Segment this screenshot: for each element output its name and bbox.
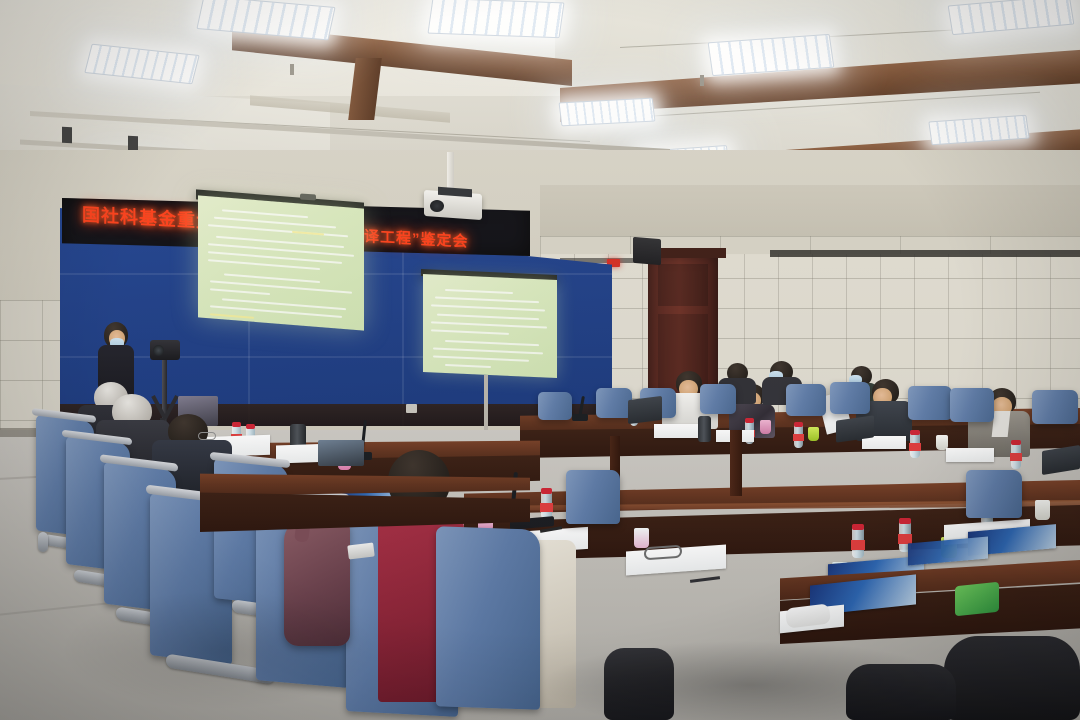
ceiling-light: [427, 0, 564, 38]
slide-text-line: [431, 304, 545, 311]
slide-text-line: [210, 288, 270, 295]
slide-text-line: [445, 364, 491, 368]
attendee-shirt: [992, 411, 1011, 437]
gooseneck-microphone-base: [572, 414, 588, 421]
chair-back[interactable]: [1032, 390, 1078, 424]
wall-reveal-strip: [770, 250, 1080, 257]
pink-paper-cup: [760, 420, 771, 434]
chair-back[interactable]: [908, 386, 952, 420]
eyeglasses-icon: [644, 545, 682, 561]
bottle-label: [540, 503, 553, 512]
slide-text-line-highlight: [292, 231, 324, 236]
camera-lens-icon: [153, 345, 164, 356]
main-projection-screen: [198, 195, 364, 330]
bottle-cap: [232, 422, 241, 427]
laptop[interactable]: [628, 396, 662, 424]
white-paper-cup: [1035, 500, 1050, 520]
chair-back[interactable]: [950, 388, 994, 422]
bottle-cap: [794, 422, 803, 427]
slide-text-line: [431, 321, 547, 328]
slide-text-line: [431, 329, 509, 335]
chair-back[interactable]: [700, 384, 736, 414]
black-thermos-flask: [698, 416, 711, 442]
sprinkler-head-icon: [700, 75, 704, 86]
chair-back[interactable]: [830, 382, 870, 414]
chair-back[interactable]: [538, 392, 572, 420]
eyeglasses-icon: [198, 432, 216, 440]
chair-back[interactable]: [566, 470, 620, 524]
slide-text-line-highlight: [210, 313, 254, 319]
green-paper-cup: [808, 427, 819, 441]
wall-speaker: [633, 237, 661, 265]
green-pouch: [955, 582, 999, 617]
side-projection-screen: [423, 274, 557, 378]
document-stack: [654, 424, 698, 438]
water-bottle: [852, 524, 864, 558]
floor-shadow: [60, 590, 380, 710]
slide-text-line: [222, 209, 308, 218]
slide-text-line: [433, 355, 529, 361]
slide-text-line: [433, 347, 543, 354]
water-bottle: [794, 422, 803, 448]
chair-back[interactable]: [786, 384, 826, 416]
chair-back[interactable]: [436, 526, 540, 710]
slide-text-line: [437, 314, 539, 321]
bottle-label: [1010, 453, 1022, 461]
document-stack: [946, 448, 994, 462]
conference-room-photo: 国社科基金重大项目 翻译工程”鉴定会: [0, 0, 1080, 720]
ceiling-light: [559, 98, 656, 127]
chair-sled-base: [38, 532, 48, 552]
office-chair-silhouette[interactable]: [944, 636, 1080, 720]
slide-text-line: [445, 289, 513, 294]
slide-text-line: [445, 340, 539, 346]
slide-text-line: [435, 297, 539, 304]
bottle-cap: [745, 418, 754, 423]
water-bottle: [541, 488, 552, 519]
floor-shadow: [540, 640, 960, 720]
track-light-head-icon: [62, 127, 72, 144]
led-text-right: 翻译工程”鉴定会: [348, 227, 469, 250]
bottle-cap: [852, 524, 864, 530]
water-bottle: [1011, 440, 1021, 469]
bottle-label: [793, 434, 804, 441]
chair-back[interactable]: [596, 388, 632, 418]
bottle-cap: [541, 488, 552, 494]
sprinkler-head-icon: [290, 64, 294, 75]
bottle-cap: [910, 430, 920, 435]
bottle-cap: [1011, 440, 1021, 445]
wall-outlet-icon: [406, 404, 417, 413]
table-leg: [730, 430, 742, 496]
laptop[interactable]: [318, 440, 364, 466]
pink-paper-cup: [634, 528, 649, 548]
projector-lens-icon: [430, 200, 444, 212]
bottle-label: [851, 540, 865, 550]
door-panel-inset: [658, 264, 708, 306]
bottle-label: [909, 443, 921, 451]
bottle-cap: [246, 424, 255, 429]
water-bottle: [910, 430, 920, 458]
chair-back[interactable]: [966, 470, 1022, 518]
screen-top-roller: [300, 193, 316, 200]
bottle-cap: [899, 518, 911, 524]
